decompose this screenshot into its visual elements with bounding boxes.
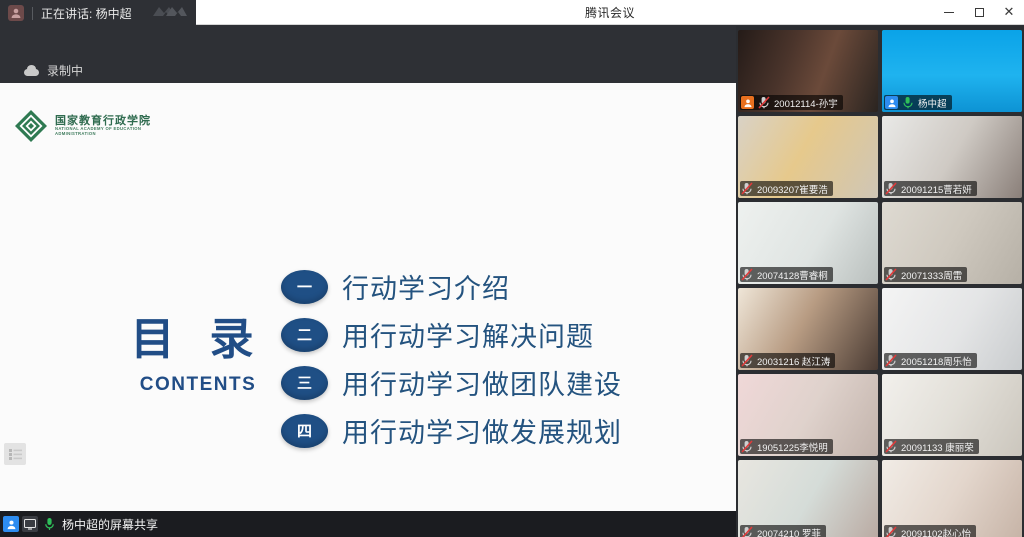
participant-name-bar: 20031216 赵江涛 bbox=[740, 353, 835, 368]
participant-name-bar: 20091102赵心怡 bbox=[884, 525, 976, 537]
screen-share-status-bar: 杨中超的屏幕共享 bbox=[0, 511, 736, 537]
window-title-bar[interactable]: 腾讯会议 ✕ bbox=[196, 0, 1024, 25]
mic-muted-icon bbox=[741, 268, 753, 281]
person-avatar-icon bbox=[885, 96, 898, 109]
active-speaker-indicator: 正在讲话: 杨中超 bbox=[0, 0, 140, 26]
participant-name: 20091133 康丽荣 bbox=[901, 440, 974, 454]
toc-number-badge: 一 bbox=[281, 270, 328, 304]
participant-name: 20093207崔要浩 bbox=[757, 182, 828, 196]
participant-name: 20031216 赵江涛 bbox=[757, 354, 830, 368]
mic-muted-icon bbox=[741, 182, 753, 195]
mic-muted-icon bbox=[741, 354, 753, 367]
participant-name-bar: 20091215曹若妍 bbox=[884, 181, 977, 196]
participant-name: 20071333周雷 bbox=[901, 268, 962, 282]
mic-muted-icon bbox=[758, 96, 770, 109]
cloud-recording-icon bbox=[24, 65, 39, 76]
mic-muted-icon bbox=[885, 526, 897, 537]
maximize-button[interactable] bbox=[964, 0, 994, 25]
heading-cn: 目 录 bbox=[118, 318, 278, 362]
mic-muted-icon bbox=[885, 268, 897, 281]
mic-on-icon bbox=[902, 96, 914, 109]
participant-name: 20091102赵心怡 bbox=[901, 526, 971, 537]
list-menu-icon[interactable] bbox=[4, 443, 26, 465]
participant-tile[interactable]: 20093207崔要浩 bbox=[738, 116, 878, 198]
organization-logo: 国家教育行政学院 NATIONAL ACADEMY OF EDUCATION A… bbox=[14, 109, 151, 143]
toc-item: 一行动学习介绍 bbox=[281, 267, 622, 306]
participant-name: 19051225李悦明 bbox=[757, 440, 828, 454]
toc-item: 二用行动学习解决问题 bbox=[281, 315, 622, 354]
participant-name: 20074128曹睿桐 bbox=[757, 268, 828, 282]
minimize-icon bbox=[944, 12, 954, 13]
organization-name: 国家教育行政学院 NATIONAL ACADEMY OF EDUCATION A… bbox=[55, 115, 151, 137]
window-controls: ✕ bbox=[934, 0, 1024, 25]
participant-name-bar: 20091133 康丽荣 bbox=[884, 439, 979, 454]
mic-on-icon bbox=[41, 516, 57, 532]
person-avatar-icon bbox=[3, 516, 19, 532]
participant-name-bar: 20071333周雷 bbox=[884, 267, 967, 282]
toc-number-badge: 四 bbox=[281, 414, 328, 448]
participant-name-bar: 杨中超 bbox=[884, 95, 952, 110]
participant-name-bar: 20051218周乐怡 bbox=[884, 353, 977, 368]
participant-name-bar: 19051225李悦明 bbox=[740, 439, 833, 454]
academy-emblem-icon bbox=[14, 109, 48, 143]
participant-tile[interactable]: 20071333周雷 bbox=[882, 202, 1022, 284]
toc-label: 用行动学习做团队建设 bbox=[342, 363, 622, 402]
participant-tile[interactable]: 20074210 罗菲 bbox=[738, 460, 878, 537]
participant-tile[interactable]: 20074128曹睿桐 bbox=[738, 202, 878, 284]
participant-name-bar: 20093207崔要浩 bbox=[740, 181, 833, 196]
toc-item: 四用行动学习做发展规划 bbox=[281, 411, 622, 450]
recording-label: 录制中 bbox=[47, 62, 83, 79]
screen-share-label: 杨中超的屏幕共享 bbox=[62, 516, 158, 533]
toc-label: 行动学习介绍 bbox=[342, 267, 510, 306]
mic-muted-icon bbox=[885, 354, 897, 367]
toc-number-badge: 二 bbox=[281, 318, 328, 352]
participant-name: 20074210 罗菲 bbox=[757, 526, 821, 537]
speaking-label: 正在讲话: 杨中超 bbox=[41, 5, 132, 22]
close-icon: ✕ bbox=[1004, 6, 1015, 19]
participant-name: 20051218周乐怡 bbox=[901, 354, 972, 368]
toc-label: 用行动学习解决问题 bbox=[342, 315, 594, 354]
screen-share-owner: 杨中超的屏幕共享 bbox=[0, 511, 166, 537]
toc-item: 三用行动学习做团队建设 bbox=[281, 363, 622, 402]
recording-indicator: 录制中 bbox=[0, 57, 736, 83]
table-of-contents: 一行动学习介绍二用行动学习解决问题三用行动学习做团队建设四用行动学习做发展规划 bbox=[281, 267, 622, 450]
person-avatar-icon bbox=[741, 96, 754, 109]
heading-en: CONTENTS bbox=[118, 374, 278, 396]
participant-name: 20091215曹若妍 bbox=[901, 182, 972, 196]
toc-label: 用行动学习做发展规划 bbox=[342, 411, 622, 450]
participant-video-grid: 20012114-孙宇杨中超20093207崔要浩20091215曹若妍2007… bbox=[736, 26, 1024, 537]
tencent-meeting-window: 正在讲话: 杨中超 腾讯会议 ✕ 录制中 bbox=[0, 0, 1024, 537]
participant-tile[interactable]: 20051218周乐怡 bbox=[882, 288, 1022, 370]
close-button[interactable]: ✕ bbox=[994, 0, 1024, 25]
participant-tile[interactable]: 杨中超 bbox=[882, 30, 1022, 112]
toc-number-badge: 三 bbox=[281, 366, 328, 400]
participant-tile[interactable]: 20091102赵心怡 bbox=[882, 460, 1022, 537]
participant-tile[interactable]: 19051225李悦明 bbox=[738, 374, 878, 456]
participant-tile[interactable]: 20031216 赵江涛 bbox=[738, 288, 878, 370]
maximize-icon bbox=[975, 8, 984, 17]
mic-muted-icon bbox=[741, 440, 753, 453]
shared-screen-area: 录制中 国家教育行政学院 NATIONAL ACADEMY OF EDUCATI… bbox=[0, 26, 736, 511]
participant-name-bar: 20074128曹睿桐 bbox=[740, 267, 833, 282]
window-title: 腾讯会议 bbox=[196, 4, 1024, 21]
slide-heading: 目 录 CONTENTS bbox=[118, 318, 278, 396]
screen-share-icon bbox=[22, 516, 38, 532]
tencent-meeting-logo-icon bbox=[148, 3, 190, 23]
mic-muted-icon bbox=[741, 526, 753, 537]
mic-muted-icon bbox=[885, 440, 897, 453]
person-avatar-icon bbox=[8, 5, 24, 21]
divider bbox=[32, 7, 33, 20]
participant-name: 杨中超 bbox=[918, 96, 947, 110]
participant-tile[interactable]: 20091133 康丽荣 bbox=[882, 374, 1022, 456]
org-name-en-line2: ADMINISTRATION bbox=[55, 132, 151, 137]
minimize-button[interactable] bbox=[934, 0, 964, 25]
participant-name: 20012114-孙宇 bbox=[774, 96, 838, 110]
mic-muted-icon bbox=[885, 182, 897, 195]
participant-name-bar: 20012114-孙宇 bbox=[740, 95, 843, 110]
participant-name-bar: 20074210 罗菲 bbox=[740, 525, 826, 537]
presentation-slide: 国家教育行政学院 NATIONAL ACADEMY OF EDUCATION A… bbox=[0, 83, 736, 511]
participant-tile[interactable]: 20091215曹若妍 bbox=[882, 116, 1022, 198]
participant-tile[interactable]: 20012114-孙宇 bbox=[738, 30, 878, 112]
